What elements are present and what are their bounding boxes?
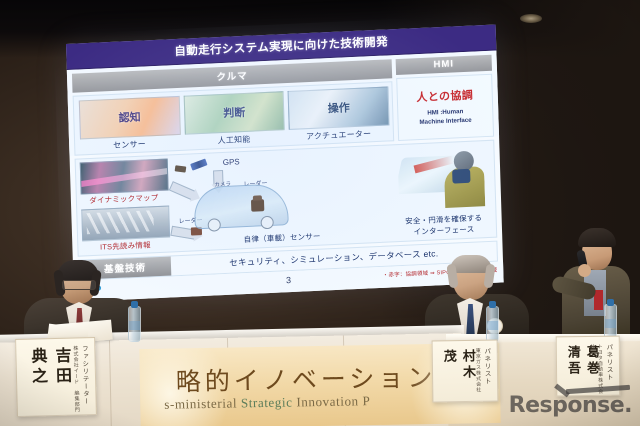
- ai-caption: 人工知能: [185, 132, 284, 147]
- rear-wheel-icon: [260, 215, 273, 229]
- ceiling-light: [520, 14, 542, 23]
- response-watermark: Response.: [509, 393, 632, 418]
- sensor-caption: センサー: [80, 136, 179, 151]
- panelist-standing-hand: [578, 264, 591, 277]
- sensor-image: 認知: [79, 95, 181, 139]
- ground-station-icon: [175, 165, 187, 172]
- banner-english-prefix: s-ministerial: [164, 395, 241, 411]
- vehicle-illustration: [194, 183, 289, 229]
- ai-image: 判断: [183, 91, 285, 135]
- panelist-standing-person: [556, 228, 636, 340]
- hmi-driver-illustration: [398, 148, 486, 212]
- thumb-sensor: 認知 センサー: [79, 96, 179, 152]
- nameplate-panelist-seated-role: パネリスト: [481, 348, 492, 386]
- hmi-highlight-text: 人との協調: [416, 87, 473, 106]
- actuator-caption: アクチュエーター: [289, 127, 388, 142]
- diagram-center-column: GPS カメラ レーダー レーダー 自律（車載）センサー: [169, 148, 394, 249]
- banner-english-mid: Strategic: [241, 394, 293, 410]
- nameplate-panelist-standing-role: パネリスト: [603, 344, 613, 382]
- nameplate-panelist-seated-org: 東京ガス株式会社: [473, 348, 481, 393]
- ai-overlay-label: 判断: [185, 102, 284, 122]
- car-thumb-row: 認知 センサー 判断 人工知能: [74, 82, 393, 154]
- diagram-left-column: ダイナミックマップ ITS先読み情報: [80, 158, 169, 253]
- hmi-column: HMI 人との協調 HMI :Human Machine Interface: [396, 55, 494, 141]
- front-wheel-icon: [208, 218, 221, 232]
- banner-english-suffix: Innovation P: [292, 393, 370, 409]
- thumb-actuator: 操作 アクチュエーター: [288, 86, 388, 142]
- lidar-icon: [251, 199, 264, 212]
- thumb-ai: 判断 人工知能: [183, 91, 283, 147]
- glasses-icon: [62, 280, 96, 290]
- car-thumbs-panel: 認知 センサー 判断 人工知能: [73, 81, 395, 155]
- panelist-seated-hair-right: [483, 263, 495, 288]
- hmi-subtitle: HMI :Human Machine Interface: [419, 108, 472, 127]
- dynamic-map-image: [80, 158, 169, 194]
- system-diagram: ダイナミックマップ ITS先読み情報 GPS カメラ レーダー: [75, 139, 498, 256]
- nameplate-facilitator: 吉田 典之 ファシリテーター 株式会社イード 編集部門: [15, 337, 97, 417]
- driver-display-shape: [452, 168, 470, 183]
- water-bottle-left: [128, 306, 141, 342]
- nameplate-facilitator-org: 株式会社イード 編集部門: [71, 345, 80, 412]
- banner-english-text: s-ministerial Strategic Innovation P: [164, 393, 370, 413]
- hmi-panel: 人との協調 HMI :Human Machine Interface: [396, 73, 494, 140]
- hmi-column-header: HMI: [396, 55, 492, 75]
- driver-head-shape: [454, 150, 475, 171]
- slide-page-number: 3: [286, 275, 291, 285]
- vehicle-sensor-caption: 自律（車載）センサー: [171, 227, 393, 248]
- car-column: クルマ 認知 センサー 判断: [72, 59, 394, 155]
- gps-label: GPS: [223, 157, 240, 167]
- actuator-overlay-label: 操作: [289, 97, 388, 117]
- satellite-icon: [190, 158, 207, 170]
- panelist-standing-hair: [578, 228, 616, 247]
- photo-stage: 自動走行システム実現に向けた技術開発 クルマ 認知 センサー: [0, 0, 640, 426]
- nameplate-facilitator-name: 吉田 典之: [24, 347, 74, 410]
- nameplate-panelist-seated: 村木 茂 パネリスト 東京ガス株式会社: [432, 340, 499, 403]
- diagram-right-column: 安全・円滑を確保する インターフェース: [393, 143, 492, 238]
- its-image: [81, 205, 170, 241]
- water-bottle-center: [486, 306, 499, 342]
- dynamic-map-block: ダイナミックマップ: [80, 158, 167, 206]
- water-bottle-right: [604, 304, 617, 340]
- sensor-overlay-label: 認知: [80, 107, 179, 127]
- actuator-image: 操作: [288, 86, 390, 130]
- slide-body: クルマ 認知 センサー 判断: [67, 50, 499, 155]
- nameplate-facilitator-role: ファシリテーター: [78, 345, 89, 405]
- its-block: ITS先読み情報: [81, 205, 168, 253]
- arrow-from-map-icon: [169, 181, 197, 201]
- hmi-subtitle-line2: Machine Interface: [419, 116, 471, 127]
